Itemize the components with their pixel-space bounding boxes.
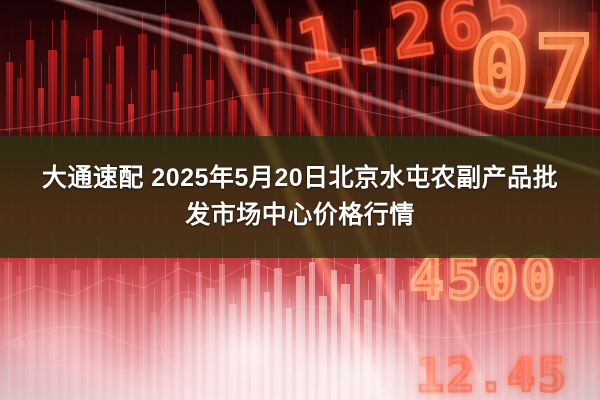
led-digits-upper-left: 1.265 <box>292 0 539 84</box>
chart-bar <box>556 304 562 400</box>
chart-bar <box>579 262 585 400</box>
chart-bar-wick <box>199 6 200 144</box>
chart-bar-wick <box>232 90 233 138</box>
chart-bar <box>578 44 584 132</box>
chart-bar-wick <box>480 40 481 144</box>
chart-bar <box>521 22 529 132</box>
chart-bar-wick <box>446 24 447 150</box>
chart-bar <box>241 278 247 400</box>
chart-bar-wick <box>536 78 537 144</box>
chart-bar-wick <box>255 4 256 144</box>
chart-bar <box>26 258 35 400</box>
chart-bar-wick <box>75 255 76 400</box>
chart-bar-wick <box>424 282 425 400</box>
chart-bar <box>184 298 192 400</box>
chart-bar-wick <box>311 44 312 144</box>
chart-bar <box>589 288 597 400</box>
chart-bar-wick <box>132 279 133 400</box>
chart-bar <box>421 302 427 400</box>
chart-bar <box>399 290 405 400</box>
chart-bar <box>26 40 34 132</box>
chart-bar-wick <box>300 81 301 141</box>
chart-bar <box>38 88 44 132</box>
chart-bar <box>229 304 237 400</box>
chart-bar <box>286 308 292 400</box>
title-line-2: 发市场中心价格行情 <box>185 199 415 232</box>
chart-bar-wick <box>131 89 132 141</box>
chart-bar-wick <box>143 246 144 400</box>
chart-bar-wick <box>312 242 313 400</box>
chart-bar <box>454 294 462 400</box>
chart-bar <box>151 70 157 132</box>
chart-bar <box>128 104 134 132</box>
chart-bar <box>466 270 472 400</box>
chart-bar <box>543 66 552 132</box>
chart-bar-wick <box>356 0 357 146</box>
chart-bar-wick <box>491 7 492 147</box>
chart-bar <box>364 300 372 400</box>
chart-bar <box>49 264 57 400</box>
chart-bar-wick <box>221 14 222 150</box>
led-digits-bottom-right: 12.45 <box>416 352 568 398</box>
chart-bar-wick <box>469 255 470 400</box>
chart-bar <box>206 288 215 400</box>
chart-bar <box>218 44 224 132</box>
chart-bar <box>476 60 484 132</box>
chart-bar-wick <box>52 20 53 150</box>
led-digits-lower-right: 4500 <box>410 252 558 308</box>
chart-bar-wick <box>64 10 65 138</box>
chart-bar-wick <box>120 264 121 400</box>
chart-bar-wick <box>323 271 324 400</box>
chart-bar <box>71 96 79 132</box>
title-line-1: 大通速配 2025年5月20日北京水屯农副产品批 <box>42 162 558 195</box>
chart-bar-wick <box>98 235 99 400</box>
chart-bar-wick <box>42 265 43 400</box>
chart-bar-wick <box>20 63 21 141</box>
chart-bar <box>206 80 214 132</box>
chart-bar <box>534 292 540 400</box>
chart-bar <box>521 264 530 400</box>
chart-bar-wick <box>165 250 166 400</box>
chart-bar-wick <box>109 276 110 400</box>
chart-bar <box>16 276 22 400</box>
stock-market-banner: 1.265 070 4500 12.45 大通速配 2025年5月20日北京水屯… <box>0 0 600 400</box>
chart-bar <box>296 96 304 132</box>
chart-bar-wick <box>19 261 20 400</box>
chart-bar-wick <box>322 11 323 147</box>
chart-bar-wick <box>87 266 88 400</box>
chart-bar <box>386 258 395 400</box>
chart-bar <box>466 94 472 132</box>
chart-bar-wick <box>86 38 87 144</box>
chart-bar <box>161 280 170 400</box>
chart-bar <box>511 274 517 400</box>
chart-bar-wick <box>199 252 200 400</box>
chart-bar-wick <box>244 263 245 400</box>
chart-bar-wick <box>30 238 31 400</box>
chart-bar-wick <box>424 20 425 144</box>
chart-bar <box>398 100 404 132</box>
chart-bar <box>17 78 23 132</box>
chart-bar-wick <box>210 263 211 400</box>
chart-bar <box>331 84 337 132</box>
chart-bar <box>363 92 372 132</box>
chart-bar-wick <box>8 252 9 400</box>
chart-bar-wick <box>570 266 571 400</box>
chart-bar-wick <box>255 240 256 400</box>
led-digits-upper-right: 070 <box>470 24 600 122</box>
chart-bar-wick <box>177 252 178 400</box>
chart-bar-wick <box>581 29 582 141</box>
chart-bar-wick <box>469 79 470 141</box>
chart-bar <box>566 276 575 400</box>
chart-bar-wick <box>345 38 346 138</box>
chart-bar <box>251 24 259 132</box>
chart-bar <box>71 270 80 400</box>
chart-bar <box>173 92 179 132</box>
chart-bar <box>431 278 440 400</box>
chart-bar <box>354 264 360 400</box>
chart-bar-wick <box>210 55 211 147</box>
chart-bar <box>228 100 237 132</box>
chart-bar <box>273 52 282 132</box>
chart-bar-wick <box>413 251 414 400</box>
chart-bar-wick <box>154 287 155 400</box>
chart-bar <box>341 284 350 400</box>
chart-bar-wick <box>592 0 593 152</box>
chart-bar <box>308 64 314 132</box>
chart-bar-wick <box>548 243 549 400</box>
chart-bar-wick <box>154 45 155 147</box>
chart-bar <box>4 262 12 400</box>
chart-bar-wick <box>435 61 436 147</box>
chart-bar <box>139 266 147 400</box>
chart-bar <box>106 306 112 400</box>
chart-bar-wick <box>75 81 76 141</box>
chart-bar <box>498 88 507 132</box>
chart-bar <box>83 58 89 132</box>
chart-bar <box>296 276 305 400</box>
chart-bar-wick <box>120 36 121 138</box>
chart-bar-wick <box>9 52 10 138</box>
chart-bar-wick <box>367 72 368 144</box>
chart-bar-wick <box>480 266 481 400</box>
chart-bar-wick <box>334 240 335 400</box>
chart-bar <box>84 286 90 400</box>
chart-bar <box>556 38 562 132</box>
chart-bar-wick <box>570 72 571 138</box>
chart-bar <box>489 260 495 400</box>
chart-bar <box>151 312 157 400</box>
chart-bar-wick <box>187 39 188 141</box>
chart-bar-wick <box>559 8 560 150</box>
chart-bar-wick <box>458 284 459 400</box>
chart-bar <box>183 54 192 132</box>
chart-bar <box>61 300 67 400</box>
chart-bar-wick <box>368 280 369 400</box>
chart-bar <box>431 86 439 132</box>
chart-bar-wick <box>345 274 346 400</box>
chart-bar-wick <box>492 235 493 400</box>
chart-bar-wick <box>188 283 189 400</box>
chart-bar <box>196 26 202 132</box>
chart-bar-wick <box>412 53 413 141</box>
chart-bar <box>94 260 102 400</box>
chart-bar <box>421 40 427 132</box>
chart-bar-wick <box>30 20 31 144</box>
chart-bar-wick <box>176 82 177 138</box>
chart-bar <box>318 36 327 132</box>
chart-bar <box>61 20 67 132</box>
chart-bar <box>353 10 359 132</box>
chart-bar <box>409 266 417 400</box>
chart-bar <box>376 56 382 132</box>
chart-bar-wick <box>41 63 42 147</box>
chart-bar-wick <box>514 264 515 400</box>
chart-bar <box>309 262 315 400</box>
chart-bar-wick <box>244 45 245 141</box>
chart-bar <box>566 82 574 132</box>
chart-bar <box>443 54 449 132</box>
chart-bar-wick <box>401 90 402 138</box>
chart-bar-wick <box>233 294 234 400</box>
chart-bar-wick <box>547 41 548 147</box>
chart-bar <box>341 48 349 132</box>
chart-bar <box>264 292 270 400</box>
chart-bar-wick <box>289 8 290 138</box>
chart-bar-wick <box>142 14 143 144</box>
chart-bar <box>544 268 552 400</box>
chart-bar-wick <box>514 40 515 138</box>
chart-bar <box>499 298 507 400</box>
chart-bar-wick <box>457 6 458 138</box>
chart-bar-wick <box>379 31 380 147</box>
chart-bar <box>196 272 202 400</box>
chart-bar-wick <box>222 234 223 400</box>
chart-bar <box>533 98 539 132</box>
chart-bar <box>138 34 147 132</box>
chart-bar <box>453 16 462 132</box>
chart-bar-wick <box>53 234 54 400</box>
chart-bar <box>39 290 45 400</box>
chart-bar <box>219 264 225 400</box>
chart-bar-wick <box>402 280 403 400</box>
chart-bar <box>263 88 269 132</box>
chart-bar <box>241 60 247 132</box>
chart-bar-wick <box>277 22 278 150</box>
chart-bar-wick <box>97 5 98 147</box>
chart-bar <box>274 268 282 400</box>
chart-bar <box>511 50 517 132</box>
chart-bar <box>116 274 125 400</box>
chart-bar-wick <box>503 268 504 400</box>
chart-bar-wick <box>537 272 538 400</box>
chart-bar <box>488 32 494 132</box>
chart-bar-wick <box>435 253 436 400</box>
chart-bar <box>444 262 450 400</box>
chart-bar <box>6 62 13 132</box>
chart-bar <box>476 286 485 400</box>
chart-bar-wick <box>525 249 526 400</box>
banner-title: 大通速配 2025年5月20日北京水屯农副产品批 发市场中心价格行情 <box>0 136 600 258</box>
chart-bar <box>106 84 112 132</box>
chart-bar <box>48 50 57 132</box>
chart-bar-wick <box>390 0 391 152</box>
chart-bar-wick <box>559 274 560 400</box>
chart-bar <box>588 12 597 132</box>
chart-bar <box>174 262 180 400</box>
chart-bar <box>161 14 169 132</box>
chart-bar-wick <box>278 238 279 400</box>
chart-bar <box>286 18 292 132</box>
chart-bar <box>116 46 124 132</box>
chart-bar-wick <box>300 261 301 400</box>
chart-bar-wick <box>379 249 380 400</box>
chart-bar-wick <box>525 7 526 141</box>
chart-bar-wick <box>267 267 268 400</box>
chart-bar-wick <box>266 63 267 147</box>
chart-bar <box>251 260 260 400</box>
chart-bar <box>408 68 417 132</box>
chart-bar <box>93 30 102 132</box>
chart-bar <box>129 294 135 400</box>
chart-bar <box>376 274 382 400</box>
chart-bar-wick <box>357 249 358 400</box>
chart-bar <box>386 28 394 132</box>
chart-bar-wick <box>582 247 583 400</box>
chart-bar <box>331 270 337 400</box>
chart-bar <box>319 296 327 400</box>
chart-bar-wick <box>593 268 594 400</box>
chart-bar-wick <box>289 298 290 400</box>
chart-bar-wick <box>64 290 65 400</box>
